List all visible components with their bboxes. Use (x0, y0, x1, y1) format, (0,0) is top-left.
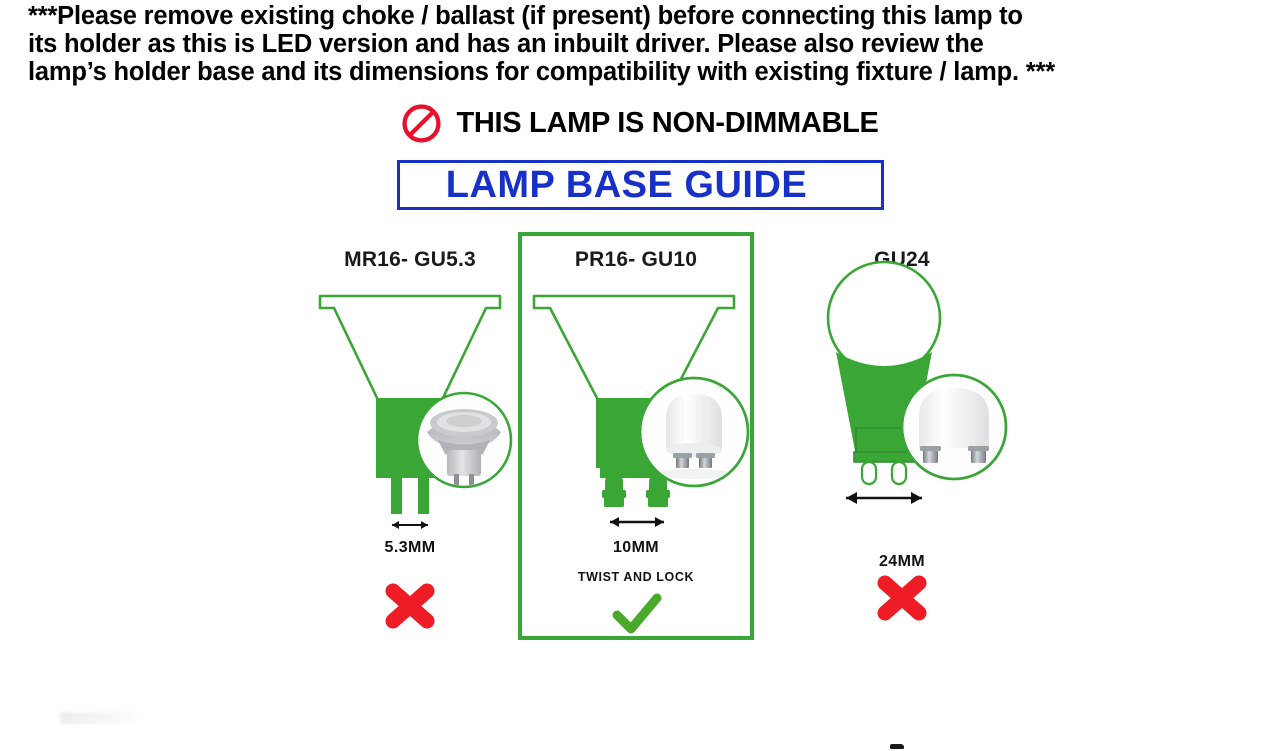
gu24-verdict (784, 572, 1020, 624)
gu10-sub-label: TWIST AND LOCK (518, 570, 754, 584)
lamp-base-option-gu24[interactable]: GU24 (784, 222, 1020, 642)
lamp-base-option-gu10-header: PR16- GU10 (518, 248, 754, 272)
warning-text-block: ***Please remove existing choke / ballas… (28, 2, 1256, 86)
scan-artifact-left (60, 712, 135, 724)
gu10-verdict (518, 592, 754, 638)
gu10-dimension-arrow (610, 517, 664, 527)
cross-icon (382, 580, 438, 632)
lamp-base-guide-title-box: LAMP BASE GUIDE (397, 160, 884, 210)
prohibition-icon (401, 103, 442, 144)
non-dimmable-notice: THIS LAMP IS NON-DIMMABLE (0, 103, 1280, 144)
gu10-lamp-illustration (518, 282, 754, 532)
lamp-base-option-gu10[interactable]: PR16- GU10 (518, 222, 754, 642)
gu10-dimension-label: 10MM (518, 539, 754, 557)
mr16-dimension-label: 5.3MM (292, 539, 528, 557)
lamp-base-option-mr16[interactable]: MR16- GU5.3 (292, 222, 528, 642)
lamp-base-guide-columns: MR16- GU5.3 (270, 222, 1030, 662)
gu24-inset-photo (902, 374, 1008, 480)
lamp-base-option-mr16-header: MR16- GU5.3 (292, 248, 528, 272)
warning-line-1: ***Please remove existing choke / ballas… (28, 2, 1256, 30)
scan-artifact-bottom (890, 744, 904, 749)
non-dimmable-label: THIS LAMP IS NON-DIMMABLE (456, 107, 878, 140)
lamp-base-guide-title: LAMP BASE GUIDE (446, 164, 836, 207)
warning-line-3: lamp’s holder base and its dimensions fo… (28, 58, 1256, 86)
mr16-verdict (292, 580, 528, 632)
cross-icon (874, 572, 930, 624)
mr16-lamp-illustration (292, 282, 528, 532)
gu24-dimension-arrow (846, 492, 922, 504)
check-icon (608, 592, 664, 638)
warning-line-2: its holder as this is LED version and ha… (28, 30, 1256, 58)
gu24-dimension-label: 24MM (784, 553, 1020, 571)
gu24-lamp-illustration (784, 252, 1020, 532)
mr16-dimension-arrow (392, 521, 428, 529)
